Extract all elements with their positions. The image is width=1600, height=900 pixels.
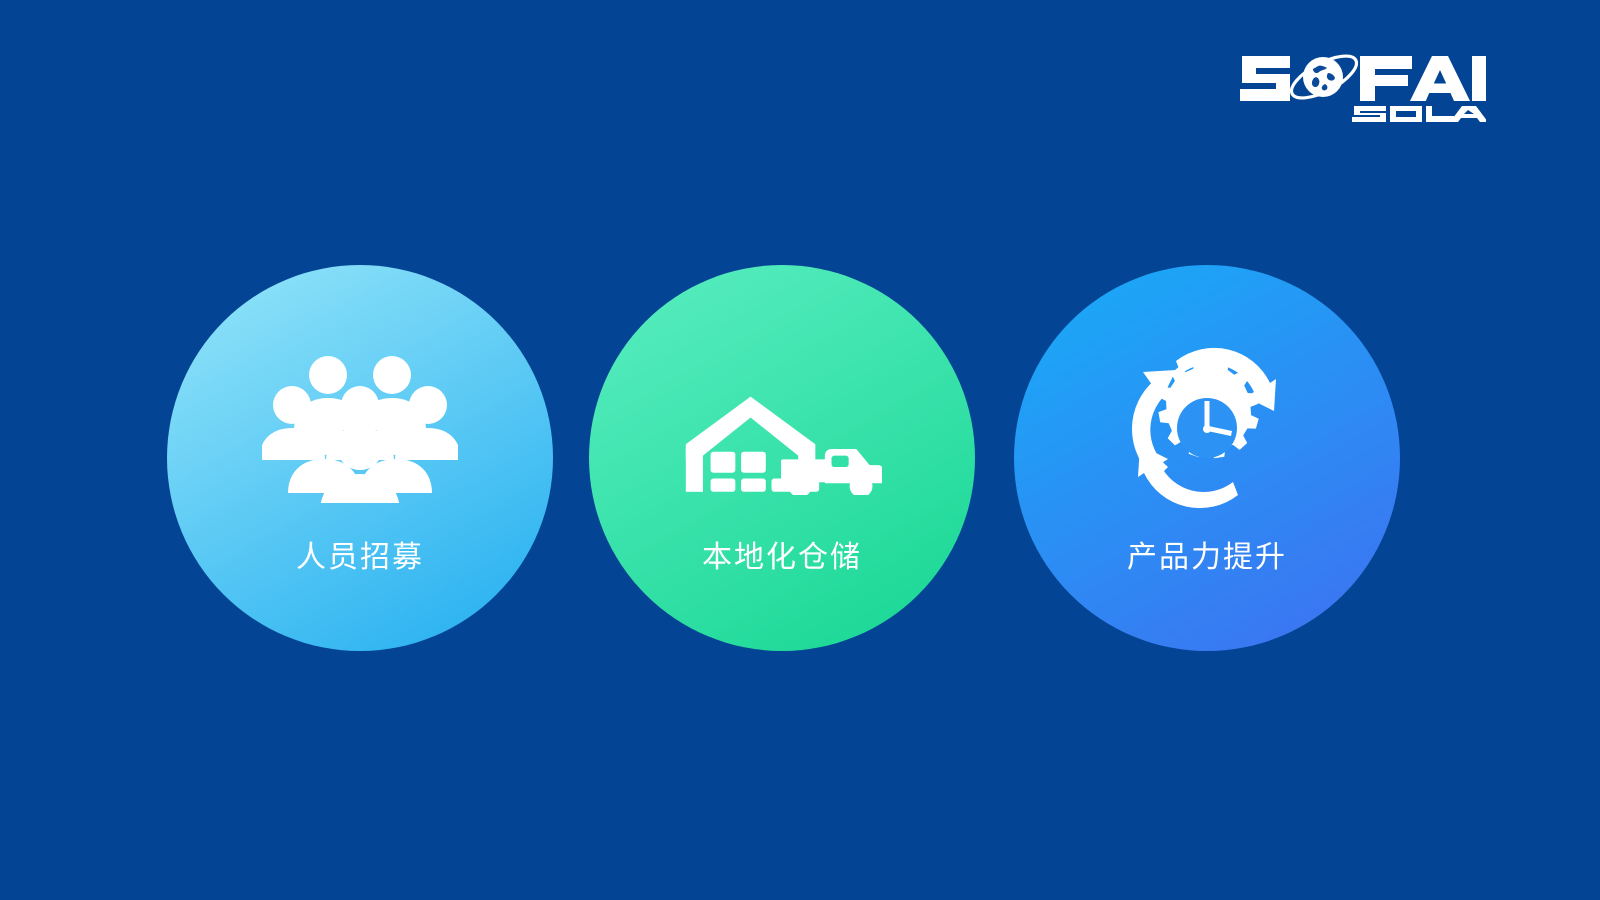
brand-logo xyxy=(1236,44,1486,122)
logo-subtext xyxy=(1352,106,1486,122)
feature-label-personnel-recruitment: 人员招募 xyxy=(296,541,424,574)
feature-label-product-capability: 产品力提升 xyxy=(1127,541,1287,574)
feature-label-localized-warehousing: 本地化仓储 xyxy=(702,541,862,574)
warehouse-truck-icon xyxy=(682,353,882,503)
feature-circle-personnel-recruitment[interactable]: 人员招募 xyxy=(167,265,553,651)
slide-canvas: 人员招募 xyxy=(0,0,1600,900)
feature-circle-row: 人员招募 xyxy=(0,265,1600,665)
feature-circle-localized-warehousing[interactable]: 本地化仓储 xyxy=(589,265,975,651)
sofar-solar-logo-icon xyxy=(1236,44,1486,122)
globe-icon xyxy=(1286,48,1363,107)
feature-circle-product-capability[interactable]: 产品力提升 xyxy=(1014,265,1400,651)
people-group-icon xyxy=(260,353,460,503)
gear-clock-cycle-icon xyxy=(1107,353,1307,503)
